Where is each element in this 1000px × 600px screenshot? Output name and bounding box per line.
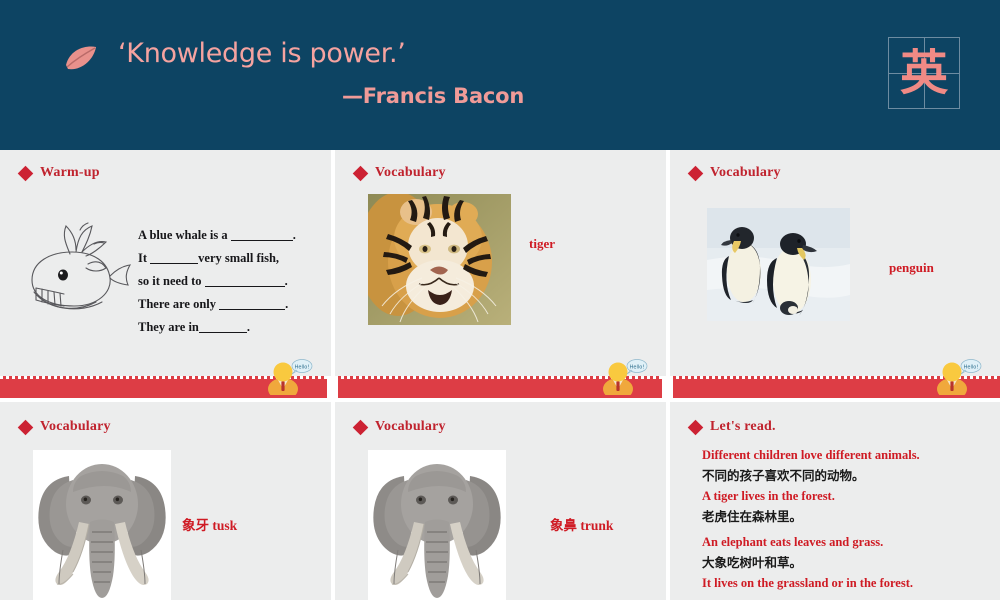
diamond-bullet-icon bbox=[18, 165, 34, 181]
panel-lets-read[interactable]: Let's read. Different children love diff… bbox=[670, 402, 1000, 600]
avatar-bubble-text: Hello! bbox=[630, 364, 645, 370]
person-avatar-icon[interactable]: Hello! bbox=[596, 359, 648, 395]
reading-line-zh: 老虎住在森林里。 bbox=[702, 506, 1000, 527]
panel-title-label: Vocabulary bbox=[375, 165, 446, 181]
tiger-photo bbox=[368, 194, 511, 325]
strip-right-edge bbox=[662, 376, 666, 398]
slide-grid: Warm-up bbox=[0, 150, 1000, 600]
panel-title-vocabulary: Vocabulary bbox=[20, 419, 111, 435]
person-avatar-icon[interactable]: Hello! bbox=[930, 359, 982, 395]
warmup-line: They are in. bbox=[138, 316, 323, 339]
panel-title-label: Let's read. bbox=[710, 419, 776, 435]
leaf-icon bbox=[64, 45, 98, 71]
avatar-bubble-text: Hello! bbox=[964, 364, 979, 370]
panel-title-vocabulary: Vocabulary bbox=[355, 419, 446, 435]
panel-title-lets-read: Let's read. bbox=[690, 419, 776, 435]
warmup-line: so it need to . bbox=[138, 270, 323, 293]
warmup-line: There are only . bbox=[138, 293, 323, 316]
strip-left-edge bbox=[335, 376, 338, 398]
vocabulary-word-tusk: 象牙 tusk bbox=[182, 514, 237, 534]
panel-title-vocabulary: Vocabulary bbox=[690, 165, 781, 181]
warmup-line: It very small fish, bbox=[138, 247, 323, 270]
panel-title-label: Vocabulary bbox=[710, 165, 781, 181]
panel-vocabulary-tusk[interactable]: Vocabulary bbox=[0, 402, 331, 600]
logo-character: 英 bbox=[889, 38, 959, 108]
subject-logo: 英 bbox=[888, 37, 960, 109]
reading-line-en: A tiger lives in the forest. bbox=[702, 486, 1000, 506]
penguin-photo bbox=[707, 208, 850, 321]
slide-sheet: ‘Knowledge is power.’ —Francis Bacon 英 W… bbox=[0, 0, 1000, 600]
header-quote-author: —Francis Bacon bbox=[342, 84, 524, 108]
header-banner: ‘Knowledge is power.’ —Francis Bacon 英 bbox=[0, 0, 1000, 150]
person-avatar-icon[interactable]: Hello! bbox=[261, 359, 313, 395]
diamond-bullet-icon bbox=[353, 165, 369, 181]
strip-left-edge bbox=[670, 376, 673, 398]
panel-vocabulary-penguin[interactable]: Vocabulary bbox=[670, 150, 1000, 398]
reading-passage: Different children love different animal… bbox=[702, 445, 1000, 593]
panel-warmup[interactable]: Warm-up bbox=[0, 150, 331, 398]
elephant-photo bbox=[33, 450, 171, 600]
vocabulary-word-trunk: 象鼻 trunk bbox=[550, 514, 613, 534]
panel-vocabulary-tiger[interactable]: Vocabulary bbox=[335, 150, 666, 398]
diamond-bullet-icon bbox=[18, 419, 34, 435]
reading-line-zh: 不同的孩子喜欢不同的动物。 bbox=[702, 465, 1000, 486]
panel-title-vocabulary: Vocabulary bbox=[355, 165, 446, 181]
reading-line-en: It lives on the grassland or in the fore… bbox=[702, 573, 1000, 593]
panel-title-label: Warm-up bbox=[40, 165, 100, 181]
strip-right-edge bbox=[327, 376, 331, 398]
whale-illustration bbox=[22, 218, 134, 326]
reading-line-en: Different children love different animal… bbox=[702, 445, 1000, 465]
warmup-line: A blue whale is a . bbox=[138, 224, 323, 247]
panel-title-warmup: Warm-up bbox=[20, 165, 100, 181]
reading-line-en: An elephant eats leaves and grass. bbox=[702, 532, 1000, 552]
avatar-bubble-text: Hello! bbox=[295, 364, 310, 370]
vocabulary-word-tiger: tiger bbox=[529, 236, 555, 252]
diamond-bullet-icon bbox=[688, 165, 704, 181]
diamond-bullet-icon bbox=[353, 419, 369, 435]
header-quote: ‘Knowledge is power.’ bbox=[118, 38, 406, 69]
warmup-blank-sentences: A blue whale is a . It very small fish, … bbox=[138, 224, 323, 339]
panel-vocabulary-trunk[interactable]: Vocabulary bbox=[335, 402, 666, 600]
vocabulary-word-penguin: penguin bbox=[889, 260, 934, 276]
diamond-bullet-icon bbox=[688, 419, 704, 435]
reading-line-zh: 大象吃树叶和草。 bbox=[702, 552, 1000, 573]
panel-title-label: Vocabulary bbox=[375, 419, 446, 435]
panel-title-label: Vocabulary bbox=[40, 419, 111, 435]
elephant-photo bbox=[368, 450, 506, 600]
